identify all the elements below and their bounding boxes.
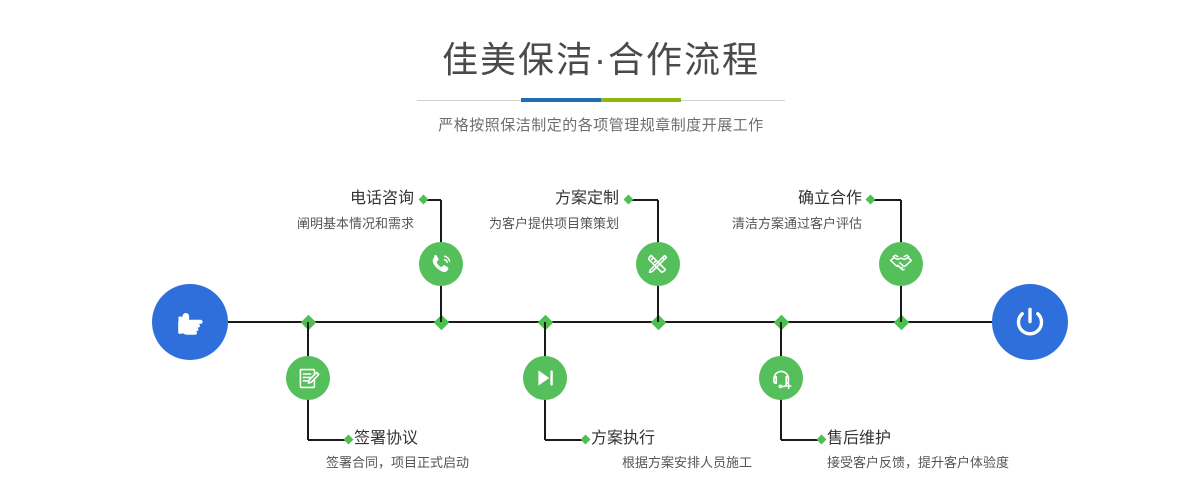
pointing-hand-icon bbox=[170, 302, 210, 342]
step-title-3: 方案定制 bbox=[420, 190, 619, 208]
step-icon-bubble-2[interactable] bbox=[286, 356, 330, 400]
pen-ruler-icon bbox=[645, 251, 671, 277]
step-icon-bubble-3[interactable] bbox=[636, 242, 680, 286]
flow-start-endpoint[interactable] bbox=[152, 284, 228, 360]
step-icon-bubble-1[interactable] bbox=[419, 242, 463, 286]
step-title-5: 确立合作 bbox=[665, 190, 862, 208]
step-icon-bubble-4[interactable] bbox=[523, 356, 567, 400]
divider-segment-blue bbox=[521, 98, 601, 102]
process-flow-infographic: 佳美保洁·合作流程 严格按照保洁制定的各项管理规章制度开展工作 bbox=[0, 0, 1202, 502]
step-icon-bubble-6[interactable] bbox=[759, 356, 803, 400]
phone-call-icon bbox=[428, 251, 454, 277]
title-divider bbox=[417, 98, 785, 102]
connector-horizontal-step-4 bbox=[545, 439, 585, 441]
label-bullet-step-3 bbox=[624, 195, 634, 205]
connector-horizontal-step-6 bbox=[781, 439, 821, 441]
document-sign-icon bbox=[296, 366, 321, 391]
flow-end-endpoint[interactable] bbox=[992, 284, 1068, 360]
play-execute-icon bbox=[533, 366, 557, 390]
connector-horizontal-step-5 bbox=[872, 199, 901, 201]
support-headset-add-icon bbox=[769, 366, 794, 391]
step-icon-bubble-5[interactable] bbox=[879, 242, 923, 286]
connector-horizontal-step-3 bbox=[630, 199, 658, 201]
step-desc-1: 阐明基本情况和需求 bbox=[178, 216, 414, 232]
handshake-icon bbox=[888, 251, 914, 277]
timeline-axis bbox=[225, 321, 995, 323]
connector-horizontal-step-2 bbox=[308, 439, 348, 441]
label-bullet-step-2 bbox=[344, 435, 354, 445]
divider-segment-green bbox=[601, 98, 681, 102]
step-title-1: 电话咨询 bbox=[198, 190, 414, 208]
step-desc-3: 为客户提供项目策策划 bbox=[400, 216, 619, 232]
step-desc-6: 接受客户反馈，提升客户体验度 bbox=[827, 455, 1107, 471]
power-button-icon bbox=[1009, 301, 1051, 343]
step-desc-5: 清洁方案通过客户评估 bbox=[645, 216, 862, 232]
label-bullet-step-5 bbox=[866, 195, 876, 205]
step-desc-2: 签署合同，项目正式启动 bbox=[326, 455, 586, 471]
page-subtitle: 严格按照保洁制定的各项管理规章制度开展工作 bbox=[0, 114, 1202, 135]
page-title: 佳美保洁·合作流程 bbox=[0, 40, 1202, 80]
page-header: 佳美保洁·合作流程 严格按照保洁制定的各项管理规章制度开展工作 bbox=[0, 0, 1202, 135]
step-title-6: 售后维护 bbox=[827, 430, 1087, 448]
